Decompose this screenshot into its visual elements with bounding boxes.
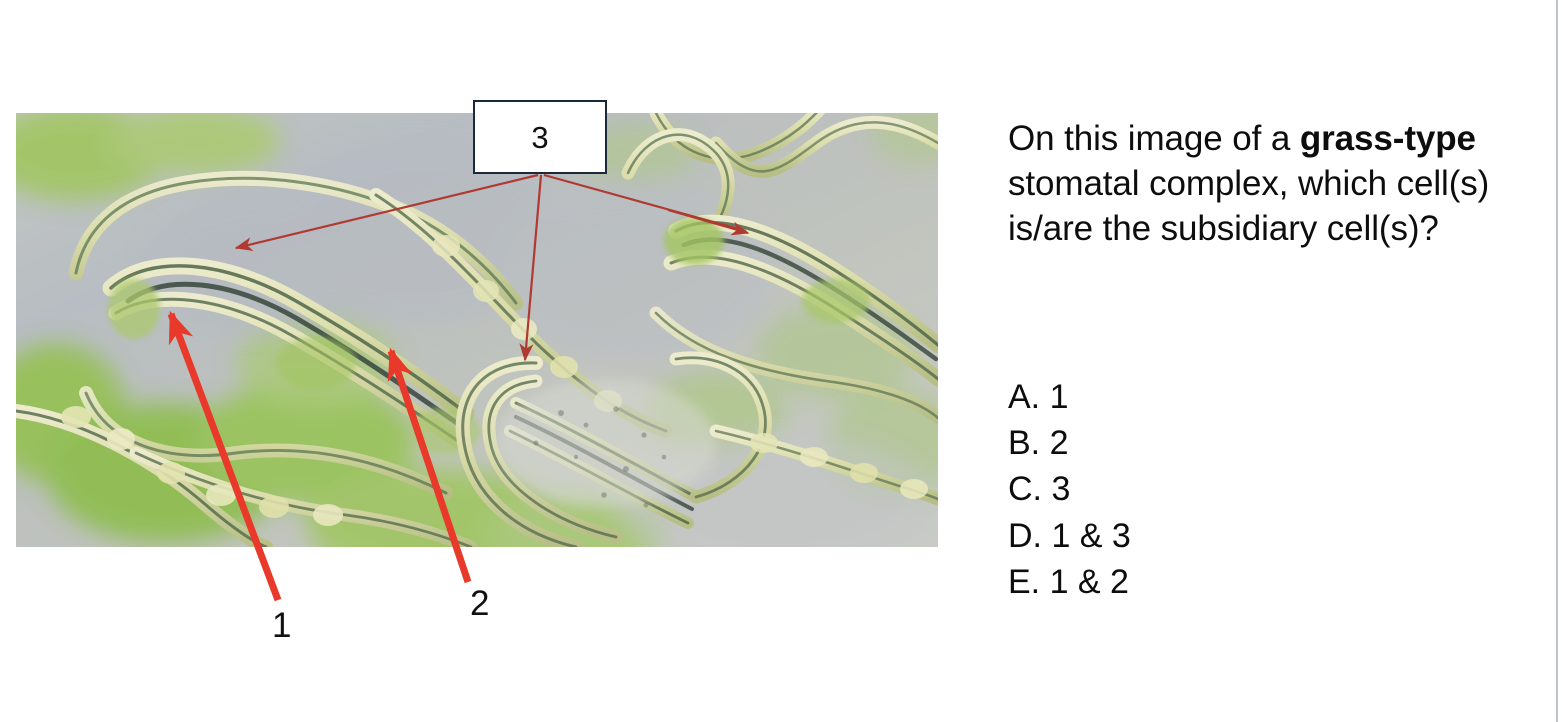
answer-option-e[interactable]: E. 1 & 2 (1008, 559, 1428, 605)
answer-options-list: A. 1 B. 2 C. 3 D. 1 & 3 E. 1 & 2 (1008, 374, 1428, 605)
question-line2-bold: type (1404, 119, 1476, 158)
question-line4: subsidiary cell(s)? (1161, 209, 1439, 248)
stomatal-complex-micrograph (16, 113, 938, 547)
callout-box-3: 3 (473, 100, 607, 174)
question-block: On this image of a grass-type stomatal c… (1008, 116, 1508, 251)
question-line1-prefix: On this image of a (1008, 119, 1300, 158)
answer-option-a[interactable]: A. 1 (1008, 374, 1428, 420)
arrow-label-2: 2 (470, 586, 489, 621)
slide-right-rule (1556, 0, 1558, 722)
slide-canvas: 3 1 2 On this image of a grass-type stom… (0, 0, 1562, 722)
question-line2-rest: stomatal complex, (1008, 164, 1288, 203)
question-text: On this image of a grass-type stomatal c… (1008, 116, 1508, 251)
answer-option-c[interactable]: C. 3 (1008, 466, 1428, 512)
micrograph-artwork (16, 113, 938, 547)
answer-option-d[interactable]: D. 1 & 3 (1008, 513, 1428, 559)
question-line1-bold: grass- (1300, 119, 1404, 158)
answer-option-b[interactable]: B. 2 (1008, 420, 1428, 466)
callout-box-3-label: 3 (531, 122, 548, 153)
arrow-label-1: 1 (272, 608, 291, 643)
